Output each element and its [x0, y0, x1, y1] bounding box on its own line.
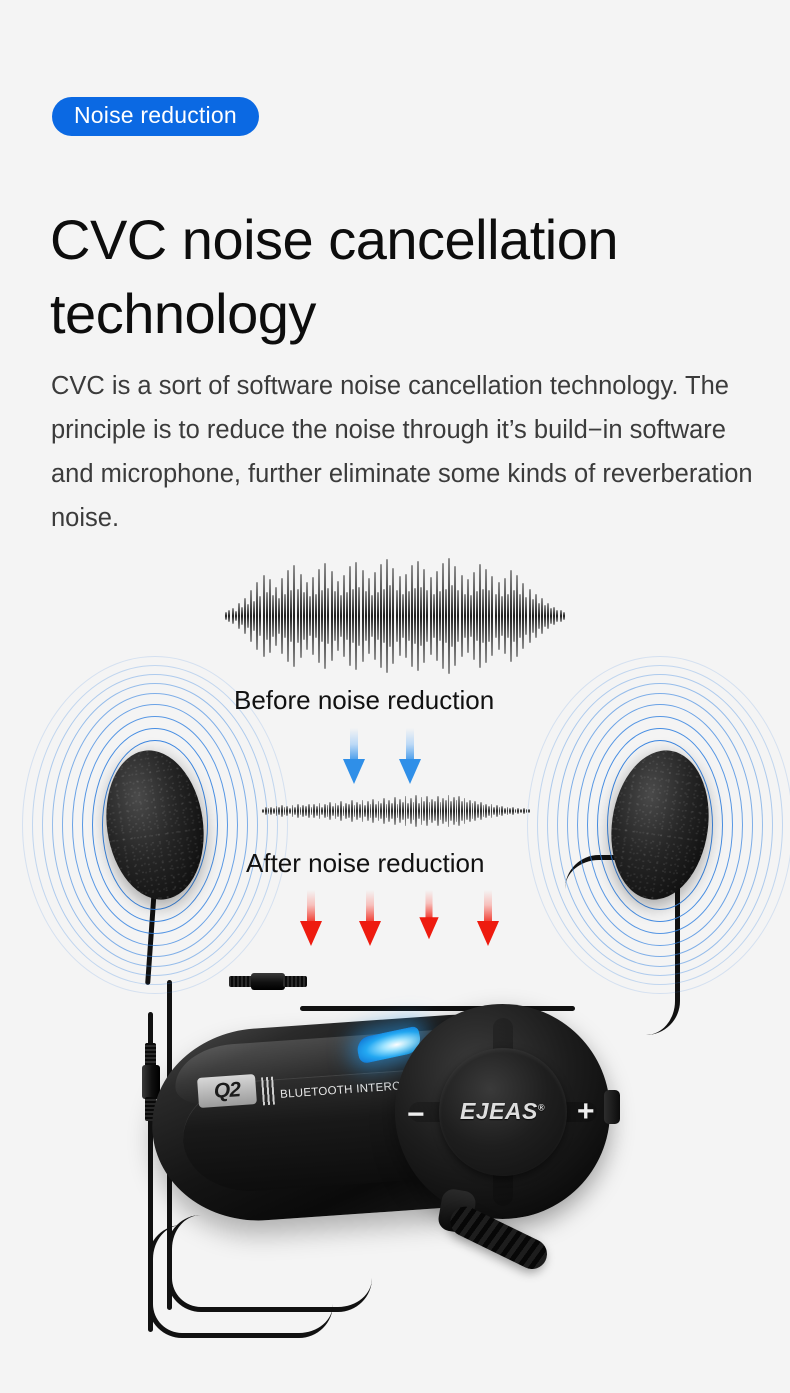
waveform-bar [493, 807, 495, 815]
waveform-bar [235, 611, 237, 622]
waveform-bar [457, 590, 459, 642]
waveform-bar [488, 590, 490, 642]
waveform-bar [479, 564, 481, 668]
waveform-bar [286, 806, 288, 817]
waveform-bar [453, 797, 455, 825]
waveform-bar [442, 563, 444, 669]
waveform-bar [306, 582, 308, 650]
waveform-bar [522, 583, 524, 649]
waveform-bar [528, 809, 530, 813]
arrow-down-red-icon [359, 890, 381, 946]
waveform-bar [391, 803, 393, 820]
arrow-down-blue-icon [399, 728, 421, 784]
waveform-bar [238, 603, 240, 629]
waveform-bar [332, 806, 334, 816]
waveform-bar [501, 806, 503, 816]
waveform-bar [309, 596, 311, 636]
waveform-bar [483, 805, 485, 816]
description-paragraph: CVC is a sort of software noise cancella… [51, 364, 775, 540]
waveform-bar [351, 800, 353, 821]
waveform-bar [250, 590, 252, 642]
waveform-bar [253, 601, 255, 632]
waveform-bar [442, 798, 444, 824]
waveform-bar [464, 594, 466, 639]
waveform-bar [467, 579, 469, 652]
waveform-bar [358, 587, 360, 646]
arrow-down-red-icon [477, 890, 499, 946]
waveform-bar [290, 590, 292, 642]
waveform-bar [394, 797, 396, 825]
blue-arrow-group [343, 728, 421, 784]
waveform-bar [375, 804, 377, 817]
waveform-bar [276, 806, 278, 816]
waveform-bar [389, 585, 391, 646]
waveform-bar [331, 571, 333, 661]
waveform-bar [324, 563, 326, 669]
waveform-bar [421, 797, 423, 824]
waveform-bar [270, 807, 272, 816]
arrow-down-red-icon [419, 890, 438, 939]
waveform-bar [383, 798, 385, 824]
divider-bars-icon [261, 1077, 275, 1106]
arrow-down-blue-icon [343, 728, 365, 784]
waveform-bar [550, 608, 552, 625]
waveform-bar [259, 596, 261, 636]
waveform-bar [451, 585, 453, 646]
waveform-bar [507, 807, 509, 815]
waveform-bar [284, 594, 286, 639]
waveform-bar [337, 805, 339, 817]
waveform-bar [244, 598, 246, 633]
waveform-bar [402, 802, 404, 820]
waveform-bar [367, 801, 369, 820]
waveform-bar [485, 804, 487, 819]
waveform-bar [315, 594, 317, 639]
waveform-bar [473, 572, 475, 659]
intercom-device: Q2 BLUETOOTH INTERCOM − + EJEAS® [152, 1004, 622, 1239]
connector-end-right [283, 976, 307, 987]
waveform-bar [297, 804, 299, 817]
waveform-bar [388, 800, 390, 822]
waveform-bar [420, 587, 422, 646]
waveform-bar [318, 569, 320, 663]
waveform-bar [327, 805, 329, 816]
waveform-bar [232, 608, 234, 625]
waveform-bar [281, 578, 283, 654]
waveform-bar [321, 590, 323, 642]
noise-reduction-illustration: Before noise reduction After noise reduc… [0, 525, 790, 1393]
waveform-bar [513, 590, 515, 642]
waveform-bar [269, 579, 271, 652]
waveform-bar [356, 802, 358, 820]
waveform-bar [532, 599, 534, 632]
waveform-bar [228, 610, 230, 622]
waveform-bar [556, 610, 558, 622]
waveform-bar [308, 804, 310, 819]
waveform-bar [414, 588, 416, 645]
section-badge: Noise reduction [52, 97, 259, 136]
waveform-bar [470, 595, 472, 637]
waveform-bar [423, 569, 425, 663]
waveform-bar [266, 592, 268, 639]
waveform-bar [436, 571, 438, 661]
waveform-bar [303, 592, 305, 639]
waveform-bar [547, 603, 549, 629]
waveform-bar [287, 570, 289, 662]
waveform-bar [504, 808, 506, 814]
waveform-bar [340, 595, 342, 637]
waveform-bar [300, 807, 302, 814]
waveform-bar [262, 809, 264, 813]
waveform-bar [520, 809, 522, 813]
waveform-bar [396, 590, 398, 642]
waveform-bar [437, 796, 439, 827]
volume-up-button[interactable]: + [577, 1097, 595, 1127]
waveform-bar [337, 581, 339, 652]
waveform-bar [461, 801, 463, 821]
waveform-bar [289, 808, 291, 814]
waveform-bar [380, 803, 382, 819]
waveform-bar [410, 798, 412, 824]
waveform-bar [377, 592, 379, 639]
waveform-bar [273, 808, 275, 814]
waveform-bar [512, 807, 514, 814]
waveform-bar [327, 588, 329, 645]
waveform-bar [297, 589, 299, 643]
volume-down-button[interactable]: − [407, 1100, 425, 1130]
waveform-bar [275, 587, 277, 646]
waveform-bar [256, 582, 258, 650]
waveform-bar [354, 805, 356, 816]
waveform-bar [380, 564, 382, 668]
waveform-bar [458, 796, 460, 826]
waveform-bar [340, 801, 342, 820]
waveform-bar [399, 799, 401, 823]
arrow-down-red-icon [300, 890, 322, 946]
waveform-bar [294, 807, 296, 816]
waveform-bar [413, 802, 415, 820]
waveform-bar [504, 578, 506, 654]
dial-center-button[interactable]: EJEAS® [439, 1048, 567, 1176]
waveform-bar [349, 566, 351, 665]
waveform-bar [305, 806, 307, 816]
waveform-bar [352, 589, 354, 643]
waveform-bar [362, 800, 364, 823]
waveform-bar [378, 801, 380, 821]
waveform-bar [474, 801, 476, 821]
waveform-bar [517, 808, 519, 814]
waveform-bar [329, 802, 331, 820]
waveform-bar [523, 808, 525, 813]
control-dial[interactable]: − + EJEAS® [395, 1004, 610, 1219]
waveform-bar [466, 802, 468, 820]
waveform-bar [541, 598, 543, 633]
waveform-bar [225, 612, 227, 619]
waveform-bar [371, 595, 373, 637]
waveform-bar [495, 594, 497, 639]
waveform-bar [405, 796, 407, 826]
waveform-bar [429, 802, 431, 820]
waveform-bar [405, 574, 407, 659]
waveform-bar [491, 576, 493, 656]
waveform-bar [312, 577, 314, 655]
waveform-bar [488, 806, 490, 816]
waveform-bar [397, 804, 399, 819]
waveform-bar [334, 591, 336, 641]
waveform-bar [439, 591, 441, 641]
waveform-bar [418, 803, 420, 820]
waveform-bar [516, 575, 518, 658]
waveform-bar [362, 570, 364, 662]
waveform-bar [491, 804, 493, 817]
side-button[interactable] [604, 1090, 620, 1124]
waveform-bar [316, 806, 318, 817]
waveform-bar [372, 799, 374, 824]
waveform-bar [370, 804, 372, 819]
waveform-bar [476, 591, 478, 641]
waveform-bar [496, 805, 498, 816]
waveform-bar [456, 800, 458, 822]
waveform-bar [302, 805, 304, 816]
waveform-bar [263, 575, 265, 658]
waveform-bar [509, 808, 511, 813]
waveform-bar [383, 589, 385, 643]
product-feature-page: Noise reduction CVC noise cancellation t… [0, 0, 790, 1393]
waveform-bar [268, 808, 270, 813]
waveform-bar [313, 804, 315, 817]
waveform-bar [450, 801, 452, 820]
waveform-bar [526, 809, 528, 813]
waveform-bar [343, 806, 345, 817]
waveform-bar [563, 612, 565, 619]
waveform-bar [423, 801, 425, 820]
red-arrow-group [300, 890, 499, 946]
model-badge: Q2 [197, 1074, 257, 1108]
waveform-bar [241, 607, 243, 626]
waveform-bar [408, 591, 410, 641]
waveform-bar [544, 605, 546, 626]
waveform-bar [359, 804, 361, 818]
waveform-bar [343, 575, 345, 658]
waveform-bar [515, 809, 517, 813]
waveform-bar [300, 574, 302, 659]
waveform-bar [417, 561, 419, 672]
waveform-bar [538, 603, 540, 629]
waveform-bar [498, 582, 500, 650]
waveform-bar [525, 597, 527, 635]
waveform-bar [426, 590, 428, 642]
waveform-bar [431, 799, 433, 824]
waveform-bar [355, 562, 357, 671]
waveform-bar [426, 796, 428, 825]
waveform-bar [272, 595, 274, 637]
waveform-bar [445, 800, 447, 821]
waveform-after-noise-reduction [196, 788, 596, 834]
waveform-bar [472, 803, 474, 819]
waveform-bar [560, 610, 562, 622]
waveform-bar [284, 807, 286, 815]
waveform-bar [430, 577, 432, 655]
waveform-bar [324, 804, 326, 818]
waveform-bar [292, 805, 294, 817]
waveform-bar [293, 565, 295, 666]
waveform-bar [386, 559, 388, 672]
waveform-bar [553, 607, 555, 626]
waveform-bar [321, 807, 323, 816]
waveform-bar [445, 589, 447, 643]
waveform-bar [482, 589, 484, 643]
waveform-bar [415, 795, 417, 827]
waveform-bar [278, 807, 280, 814]
waveform-bar [461, 575, 463, 658]
waveform-bar [265, 807, 267, 814]
waveform-bar [319, 803, 321, 820]
waveform-bar [480, 802, 482, 820]
waveform-bar [519, 594, 521, 639]
waveform-bar [501, 596, 503, 636]
waveform-bar [485, 569, 487, 663]
waveform-bar [433, 594, 435, 639]
page-title: CVC noise cancellation technology [50, 203, 750, 352]
waveform-bar [477, 804, 479, 817]
waveform-bar [335, 803, 337, 819]
waveform-bar [247, 604, 249, 628]
brand-logo: EJEAS® [460, 1098, 545, 1125]
waveform-bar [448, 558, 450, 674]
waveform-bar [535, 594, 537, 639]
waveform-bar [386, 804, 388, 818]
waveform-bar [392, 568, 394, 665]
waveform-before-noise-reduction [160, 557, 630, 675]
waveform-bar [365, 591, 367, 641]
waveform-bar [346, 592, 348, 639]
waveform-bar [499, 807, 501, 814]
waveform-bar [448, 795, 450, 828]
waveform-bar [434, 801, 436, 821]
waveform-bar [281, 805, 283, 816]
waveform-bar [464, 798, 466, 824]
waveform-bar [440, 802, 442, 820]
waveform-bar [411, 565, 413, 666]
waveform-bar [469, 800, 471, 823]
waveform-bar [311, 807, 313, 815]
waveform-bar [407, 803, 409, 819]
waveform-bar [510, 570, 512, 662]
after-label: After noise reduction [246, 848, 484, 879]
waveform-bar [278, 598, 280, 633]
waveform-bar [364, 805, 366, 817]
waveform-bar [399, 576, 401, 656]
waveform-bar [368, 578, 370, 654]
waveform-bar [348, 804, 350, 817]
waveform-bar [402, 594, 404, 639]
waveform-bar [529, 589, 531, 643]
before-label: Before noise reduction [234, 685, 494, 716]
waveform-bar [507, 594, 509, 639]
waveform-bar [454, 566, 456, 665]
waveform-bar [345, 803, 347, 820]
waveform-bar [374, 572, 376, 659]
